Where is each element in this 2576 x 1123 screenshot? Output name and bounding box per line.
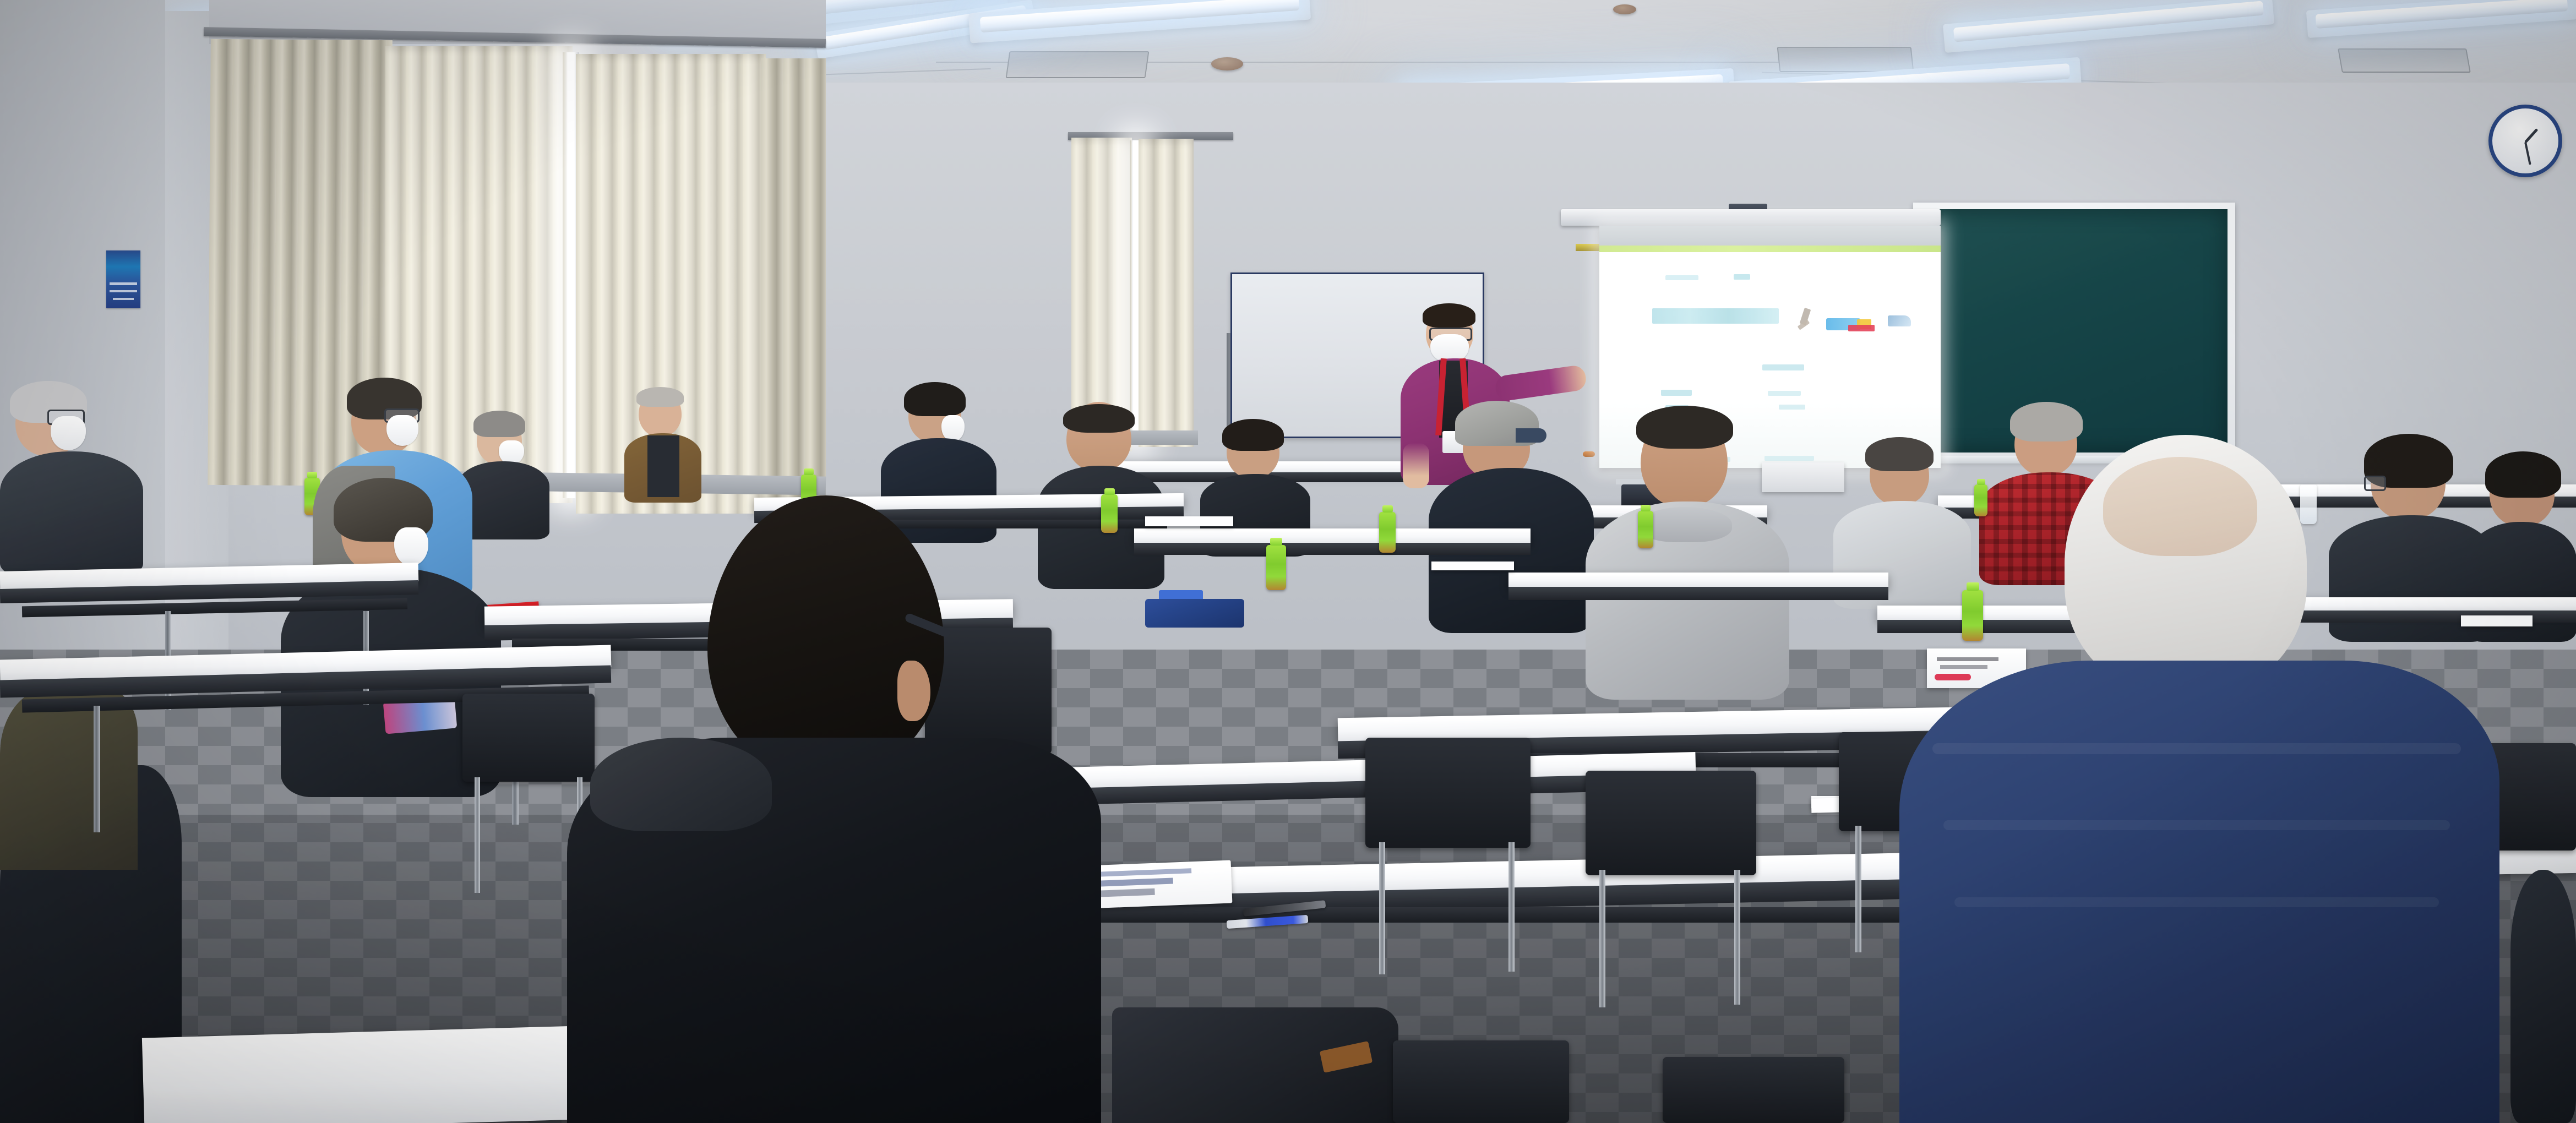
dark-jacket bbox=[2510, 870, 2576, 1123]
table-edge bbox=[1134, 543, 1531, 555]
green-tea-bottle bbox=[1266, 545, 1286, 590]
chair-leg bbox=[1855, 826, 1861, 952]
hair bbox=[636, 387, 684, 407]
inner-shirt bbox=[647, 435, 679, 497]
clock-minute-hand bbox=[2524, 142, 2531, 165]
chair bbox=[1393, 1040, 1569, 1123]
air-vent bbox=[1777, 47, 1914, 72]
navy-puffer-jacket bbox=[1899, 661, 2499, 1123]
attendee-brown-vest bbox=[622, 388, 705, 498]
hair bbox=[473, 411, 525, 437]
smoke-detector bbox=[1211, 57, 1243, 70]
table-leg bbox=[94, 706, 100, 832]
attendee-right-edge-foreground bbox=[2510, 870, 2576, 1123]
hood bbox=[590, 738, 772, 831]
face-mask-icon bbox=[386, 415, 418, 446]
hair bbox=[1636, 406, 1733, 449]
slide-graphic-red bbox=[1848, 325, 1875, 331]
chair bbox=[1663, 1057, 1844, 1123]
air-vent bbox=[1006, 51, 1150, 78]
projection-screen-case bbox=[1561, 209, 1941, 226]
clock-hour-hand bbox=[2524, 128, 2538, 143]
air-vent bbox=[2338, 48, 2471, 73]
blue-bag bbox=[1145, 599, 1244, 628]
attendee-gray-hair-left bbox=[0, 385, 143, 573]
paper-sheet bbox=[1431, 561, 1514, 570]
green-tea-bottle bbox=[1101, 494, 1118, 533]
cap-brim bbox=[1516, 428, 1546, 443]
table-row-mid bbox=[1134, 528, 1531, 544]
curtain-right-edge bbox=[761, 58, 826, 507]
screen-top-band bbox=[1599, 226, 1941, 246]
curtain-back-right bbox=[1139, 139, 1194, 447]
chair bbox=[1365, 738, 1531, 848]
olive-jacket bbox=[0, 688, 138, 870]
face-mask-icon bbox=[394, 527, 428, 566]
table-row-mid bbox=[1508, 573, 1888, 588]
hair bbox=[904, 382, 966, 416]
hair bbox=[1063, 404, 1135, 433]
slide-graphic-light-blue bbox=[1888, 315, 1911, 326]
classroom-photo bbox=[0, 0, 2576, 1123]
face-mask-icon bbox=[51, 416, 86, 450]
green-tea-bottle bbox=[1379, 512, 1396, 553]
paper-sheet bbox=[1145, 516, 1233, 526]
wall-clock bbox=[2488, 105, 2562, 177]
chair bbox=[1586, 771, 1756, 875]
face-mask-icon bbox=[941, 415, 965, 441]
chair-leg bbox=[1379, 842, 1385, 974]
attendee-black-hoodie-front bbox=[567, 495, 1101, 1123]
table-edge bbox=[1508, 587, 1888, 600]
attendee-olive-jacket bbox=[0, 688, 143, 881]
slide-header-band bbox=[1599, 246, 1941, 252]
presenter-left-arm bbox=[1403, 443, 1429, 488]
head bbox=[707, 495, 944, 776]
dark-jacket bbox=[0, 451, 143, 576]
attendee-gray-hoodie bbox=[1586, 410, 1789, 696]
smoke-detector bbox=[1613, 4, 1636, 14]
chair-leg bbox=[1599, 870, 1605, 1007]
ear bbox=[897, 661, 930, 721]
presenter-hair bbox=[1423, 303, 1475, 328]
blue-poster bbox=[106, 250, 140, 308]
chair-leg bbox=[1734, 870, 1740, 1005]
chair-leg bbox=[475, 777, 480, 893]
attendee-white-hair-navy bbox=[1899, 435, 2499, 1123]
green-tea-bottle bbox=[1638, 511, 1653, 548]
scalp bbox=[2103, 457, 2257, 556]
hair bbox=[1222, 419, 1284, 451]
chair-leg bbox=[1508, 842, 1515, 972]
